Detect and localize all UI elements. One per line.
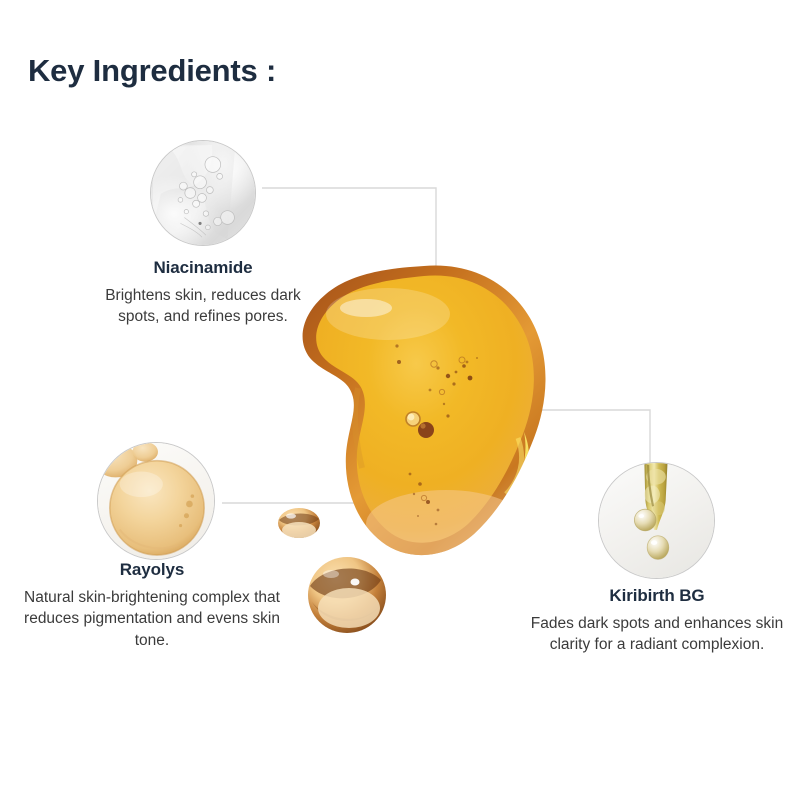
ingredient-description-rayolys: Natural skin-brightening complex that re… <box>12 587 292 651</box>
key-ingredients-infographic: Key Ingredients : <box>0 0 800 800</box>
serum-droplet-small <box>277 507 321 539</box>
ingredient-info-kiribirth: Kiribirth BG Fades dark spots and enhanc… <box>528 586 786 656</box>
ingredient-description-kiribirth: Fades dark spots and enhances skin clari… <box>528 613 786 656</box>
ingredient-title-niacinamide: Niacinamide <box>88 258 318 278</box>
ingredient-title-kiribirth: Kiribirth BG <box>528 586 786 606</box>
golden-dropper-icon <box>599 463 714 578</box>
ingredient-swatch-kiribirth <box>598 462 715 579</box>
page-title: Key Ingredients : <box>28 53 276 89</box>
amber-oil-droplets-icon <box>98 443 214 559</box>
serum-droplet-large <box>307 556 387 634</box>
ingredient-title-rayolys: Rayolys <box>12 560 292 580</box>
ingredient-swatch-rayolys <box>97 442 215 560</box>
serum-drop-illustration <box>296 262 568 562</box>
gel-bubbles-icon <box>151 141 255 245</box>
ingredient-swatch-niacinamide <box>150 140 256 246</box>
ingredient-info-niacinamide: Niacinamide Brightens skin, reduces dark… <box>88 258 318 328</box>
ingredient-info-rayolys: Rayolys Natural skin-brightening complex… <box>12 560 292 651</box>
ingredient-description-niacinamide: Brightens skin, reduces dark spots, and … <box>88 285 318 328</box>
